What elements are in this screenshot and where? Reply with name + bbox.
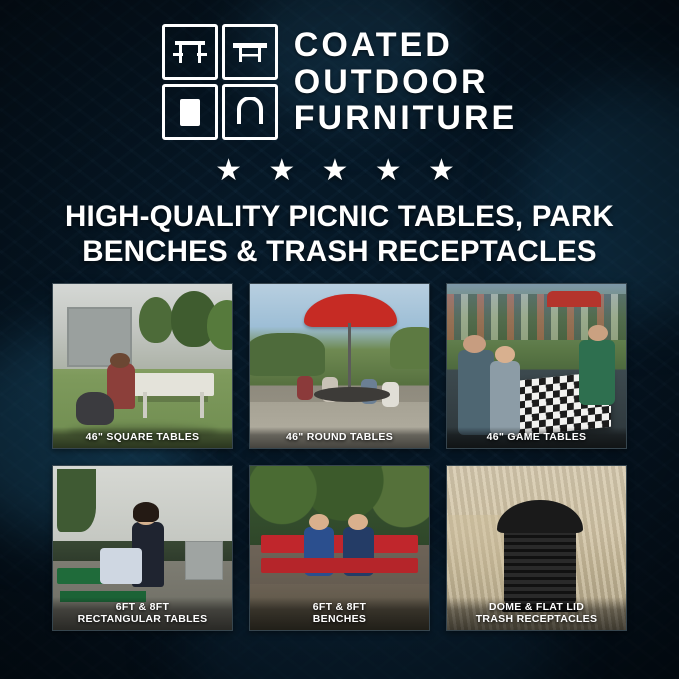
brand-word-2: OUTDOOR (294, 65, 517, 100)
brand-wordmark: COATED OUTDOOR FURNITURE (294, 28, 517, 136)
bench-icon (222, 84, 278, 140)
trash-receptacle-icon (162, 84, 218, 140)
product-grid: 46" SQUARE TABLES 46" ROUND TABLES 46" G… (52, 283, 627, 631)
brand-logo: COATED OUTDOOR FURNITURE (0, 24, 679, 140)
product-caption: 46" ROUND TABLES (250, 427, 429, 448)
brand-word-3: FURNITURE (294, 101, 517, 136)
product-caption-line-2: TRASH RECEPTACLES (450, 613, 623, 625)
product-tile-trash-receptacles[interactable]: DOME & FLAT LID TRASH RECEPTACLES (446, 465, 627, 631)
product-caption: DOME & FLAT LID TRASH RECEPTACLES (447, 597, 626, 630)
product-caption: 6FT & 8FT RECTANGULAR TABLES (53, 597, 232, 630)
promotional-banner: COATED OUTDOOR FURNITURE ★ ★ ★ ★ ★ HIGH-… (0, 0, 679, 679)
product-tile-square-tables[interactable]: 46" SQUARE TABLES (52, 283, 233, 449)
product-tile-round-tables[interactable]: 46" ROUND TABLES (249, 283, 430, 449)
game-table-checkerboard-photo (447, 284, 626, 448)
product-tile-benches[interactable]: 6FT & 8FT BENCHES (249, 465, 430, 631)
product-caption-line-1: DOME & FLAT LID (450, 601, 623, 613)
star-rating: ★ ★ ★ ★ ★ (0, 156, 679, 186)
product-tile-rectangular-tables[interactable]: 6FT & 8FT RECTANGULAR TABLES (52, 465, 233, 631)
logo-mark (162, 24, 278, 140)
square-table-icon (162, 24, 218, 80)
round-table-umbrella-photo (250, 284, 429, 448)
rectangular-table-icon (222, 24, 278, 80)
product-caption-line-2: RECTANGULAR TABLES (56, 613, 229, 625)
product-caption: 46" SQUARE TABLES (53, 427, 232, 448)
product-tile-game-tables[interactable]: 46" GAME TABLES (446, 283, 627, 449)
page-title: HIGH-QUALITY PICNIC TABLES, PARK BENCHES… (30, 200, 649, 269)
product-caption-line-1: 6FT & 8FT (253, 601, 426, 613)
product-caption: 46" GAME TABLES (447, 427, 626, 448)
square-table-photo (53, 284, 232, 448)
product-caption-line-1: 6FT & 8FT (56, 601, 229, 613)
product-caption: 6FT & 8FT BENCHES (250, 597, 429, 630)
headline-line-2: BENCHES & TRASH RECEPTACLES (30, 235, 649, 270)
headline-line-1: HIGH-QUALITY PICNIC TABLES, PARK (30, 200, 649, 235)
product-caption-line-2: BENCHES (253, 613, 426, 625)
brand-word-1: COATED (294, 28, 517, 63)
